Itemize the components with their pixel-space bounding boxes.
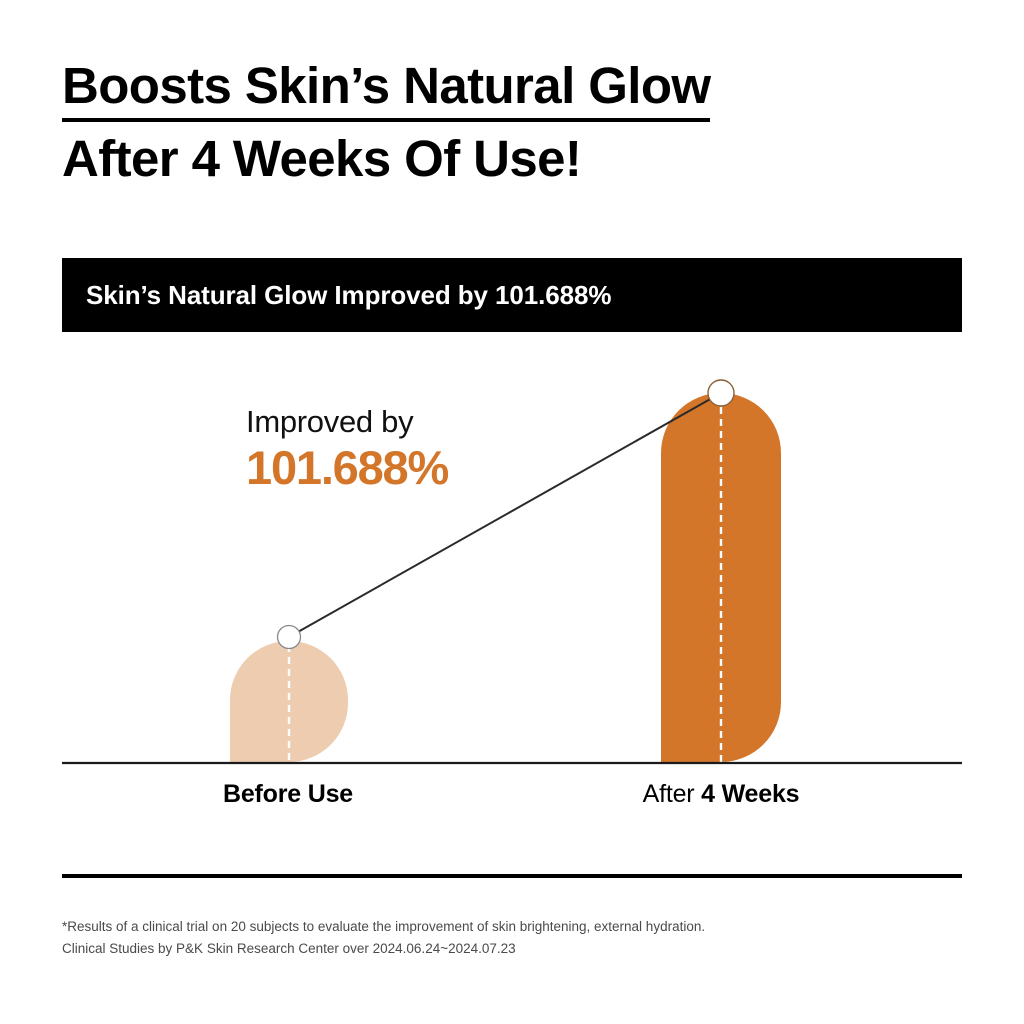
bar-after-4-weeks [661,393,781,762]
axis-label-before-use: Before Use [188,780,388,809]
marker-after-4-weeks [708,380,734,406]
chart-graphics [0,0,1024,1024]
bar-chart: Improved by 101.688% Before Use After 4 … [0,0,1024,1024]
footnote-line-2: Clinical Studies by P&K Skin Research Ce… [62,938,942,960]
marker-before-use [278,626,301,649]
improvement-callout-value: 101.688% [246,442,576,495]
footer-divider [62,874,962,878]
promotional-infographic: Boosts Skin’s Natural Glow After 4 Weeks… [0,0,1024,1024]
axis-label-after-4-weeks: After 4 Weeks [601,780,841,809]
footnote-line-1: *Results of a clinical trial on 20 subje… [62,916,942,938]
improvement-callout: Improved by 101.688% [246,404,576,494]
bar-before-use [230,641,348,762]
axis-label-after-emphasis: 4 Weeks [701,780,799,808]
footnote: *Results of a clinical trial on 20 subje… [62,916,942,960]
axis-label-after-prefix: After [643,780,702,808]
improvement-callout-label: Improved by [246,404,576,440]
